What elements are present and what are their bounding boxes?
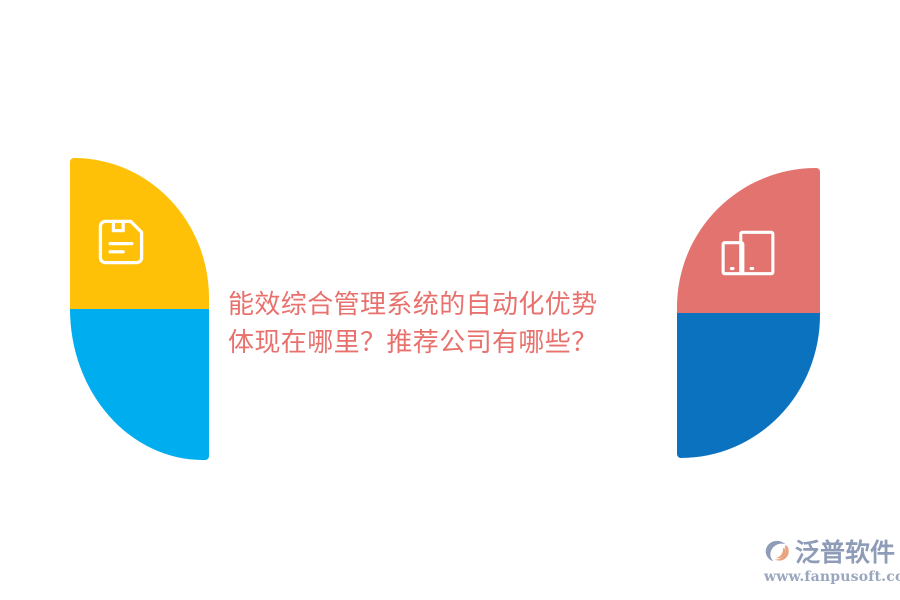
right-leaf-graphic [677,168,820,458]
save-floppy-disk-icon [95,216,147,268]
brand-logo-row: 泛普软件 [762,536,895,570]
chat-bubble-lock-icon [118,490,178,544]
brand-watermark: 泛普软件 www.fanpusoft.com [762,536,892,588]
left-leaf-bottom-cyan-panel [70,309,209,460]
right-leaf-top-salmon-panel [677,168,820,313]
left-leaf-top-yellow-panel [70,158,209,309]
left-leaf-graphic [70,158,209,460]
right-leaf-bottom-blue-panel [677,313,820,458]
headline-line-2: 体现在哪里？推荐公司有哪些？ [228,324,652,362]
fanpu-swoosh-logo-icon [762,538,792,568]
poster-canvas: 能效综合管理系统的自动化优势 体现在哪里？推荐公司有哪些？ 泛普软件 www.f… [0,0,900,600]
brand-name: 泛普软件 [795,538,895,568]
devices-tablet-phone-icon [719,228,777,278]
brand-url: www.fanpusoft.com [764,569,892,585]
headline-line-1: 能效综合管理系统的自动化优势 [228,286,652,324]
headline-text: 能效综合管理系统的自动化优势 体现在哪里？推荐公司有哪些？ [228,286,652,362]
